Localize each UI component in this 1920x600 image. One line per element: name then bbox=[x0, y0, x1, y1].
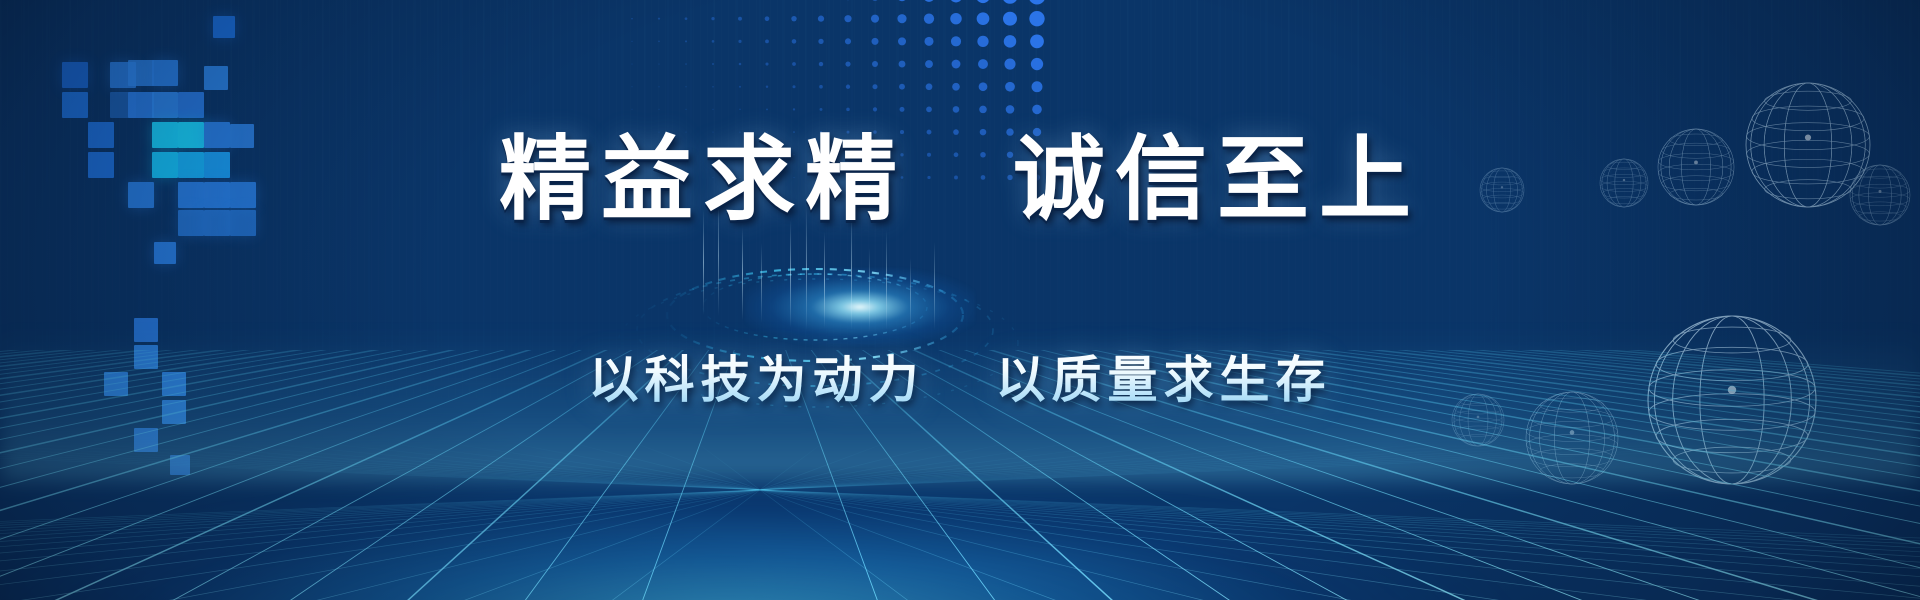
headline-part-b: 诚信至上 bbox=[1013, 129, 1421, 231]
grid-line bbox=[0, 445, 1920, 600]
grid-line bbox=[0, 445, 1480, 600]
grid-line bbox=[400, 445, 1660, 600]
grid-line bbox=[0, 445, 1780, 600]
mosaic-square bbox=[62, 62, 88, 88]
grid-line bbox=[0, 445, 1240, 600]
grid-line bbox=[0, 445, 1420, 600]
grid-line bbox=[0, 445, 1600, 600]
headline-part-a: 精益求精 bbox=[499, 129, 907, 231]
grid-line bbox=[610, 445, 820, 600]
vignette-overlay bbox=[0, 0, 1920, 600]
light-burst-icon bbox=[745, 268, 975, 346]
subtitle-part-a: 以科技为动力 bbox=[589, 352, 925, 408]
grid-line bbox=[310, 445, 940, 600]
pixel-mosaic-icon bbox=[0, 0, 330, 520]
grid-line bbox=[0, 445, 1360, 600]
vertical-streak-texture-2 bbox=[0, 0, 1920, 600]
grid-line bbox=[10, 445, 1060, 600]
light-beam bbox=[886, 230, 887, 330]
grid-line bbox=[160, 445, 1920, 600]
grid-line bbox=[640, 445, 1060, 600]
grid-line bbox=[160, 445, 1000, 600]
grid-line bbox=[220, 445, 1920, 600]
floor-glow bbox=[0, 390, 1920, 600]
mosaic-square bbox=[204, 66, 228, 90]
light-beam bbox=[824, 232, 825, 328]
grid-line bbox=[580, 445, 1210, 600]
mosaic-square bbox=[134, 428, 158, 452]
mosaic-square bbox=[213, 16, 235, 38]
mosaic-square bbox=[170, 455, 190, 475]
grid-line bbox=[520, 445, 1360, 600]
grid-line bbox=[0, 445, 1540, 600]
grid-line bbox=[0, 445, 1660, 600]
grid-line bbox=[0, 445, 1920, 600]
light-beam bbox=[761, 243, 762, 323]
mosaic-square bbox=[134, 318, 158, 342]
wireframe-globe-cluster bbox=[1220, 0, 1920, 600]
light-beam bbox=[742, 228, 743, 320]
grid-line bbox=[0, 445, 1720, 600]
mosaic-square bbox=[152, 60, 178, 86]
grid-line bbox=[0, 445, 1920, 600]
grid-line bbox=[700, 445, 910, 600]
mosaic-square bbox=[110, 62, 136, 88]
grid-line bbox=[0, 445, 1300, 600]
grid-line bbox=[0, 445, 1120, 600]
grid-line bbox=[0, 445, 1920, 600]
grid-line bbox=[340, 445, 1810, 600]
hero-banner: 精益求精 诚信至上 以科技为动力 以质量求生存 bbox=[0, 0, 1920, 600]
subtitle-part-b: 以质量求生存 bbox=[996, 352, 1332, 408]
page-title: 精益求精 诚信至上 bbox=[0, 105, 1920, 238]
grid-line bbox=[0, 445, 1920, 600]
grid-line bbox=[0, 445, 1920, 600]
light-beam bbox=[910, 258, 911, 330]
light-beam bbox=[869, 248, 870, 332]
light-beam bbox=[934, 242, 935, 330]
grid-line bbox=[100, 445, 1920, 600]
mosaic-square bbox=[154, 242, 176, 264]
grid-line bbox=[40, 445, 1920, 600]
grid-line bbox=[460, 445, 1510, 600]
page-subtitle: 以科技为动力 以质量求生存 bbox=[0, 340, 1920, 412]
grid-line bbox=[0, 445, 1840, 600]
vertical-streak-texture bbox=[0, 0, 1920, 600]
grid-line bbox=[280, 445, 1920, 600]
grid-line bbox=[460, 445, 880, 600]
grid-line bbox=[0, 445, 1180, 600]
mosaic-square bbox=[128, 60, 154, 86]
